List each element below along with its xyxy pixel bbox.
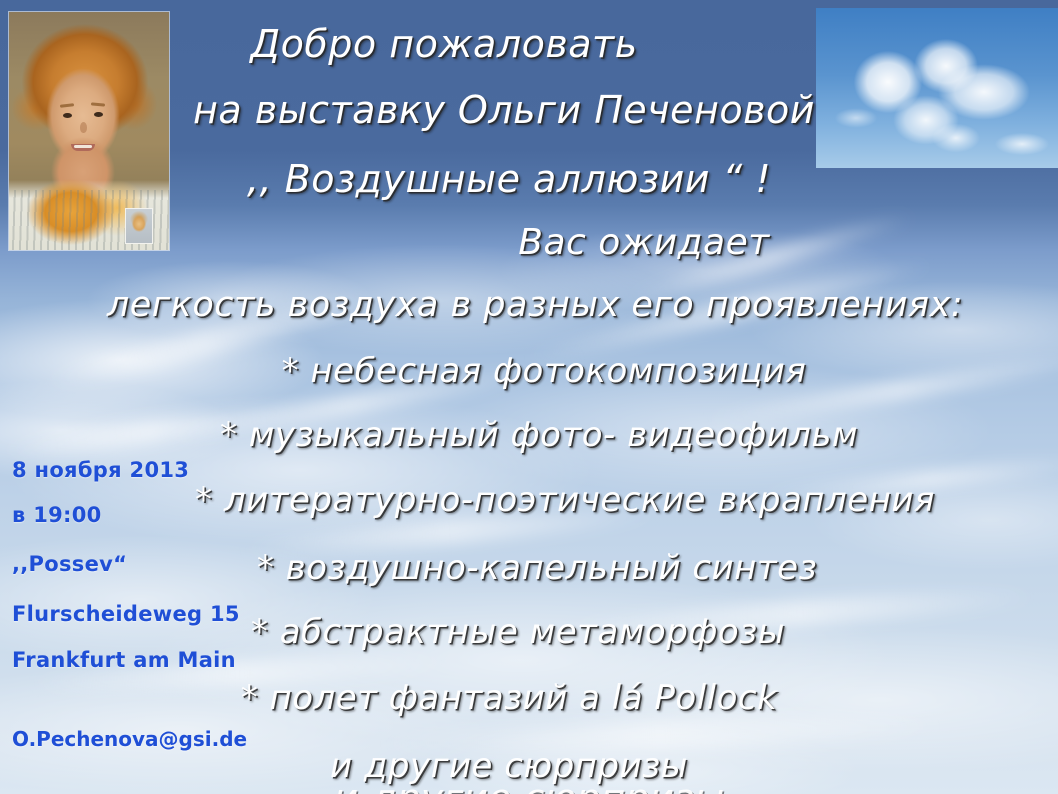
headline-line-1: Добро пожаловать [0, 22, 1058, 66]
body-bullet-2: * музыкальный фото- видеофильм [0, 415, 1058, 455]
body-lead: легкость воздуха в разных его проявления… [0, 285, 1058, 325]
event-date: 8 ноября 2013 [12, 458, 189, 482]
event-street: Flurscheideweg 15 [12, 602, 240, 626]
event-time: в 19:00 [12, 503, 102, 527]
body-bullet-4: * воздушно-капельный синтез [0, 548, 1058, 588]
event-email[interactable]: O.Pechenova@gsi.de [12, 727, 247, 751]
event-venue: ,,Possev“ [12, 552, 127, 576]
body-intro: Вас ожидает [0, 222, 1058, 263]
body-cut-off-line: и другие сюрпризы [0, 776, 1058, 794]
body-bullet-1: * небесная фотокомпозиция [0, 351, 1058, 391]
headline-line-3: ,, Воздушные аллюзии “ ! [0, 157, 1058, 201]
teeth [74, 145, 92, 148]
poster-canvas: Добро пожаловать на выставку Ольги Печен… [0, 0, 1058, 794]
headline-line-2: на выставку Ольги Печеновой [0, 88, 1058, 132]
body-bullet-6: * полет фантазий а lá Pollock [0, 678, 1058, 718]
event-city: Frankfurt am Main [12, 648, 236, 672]
body-bullet-3: * литературно-поэтические вкрапления [0, 480, 1058, 520]
